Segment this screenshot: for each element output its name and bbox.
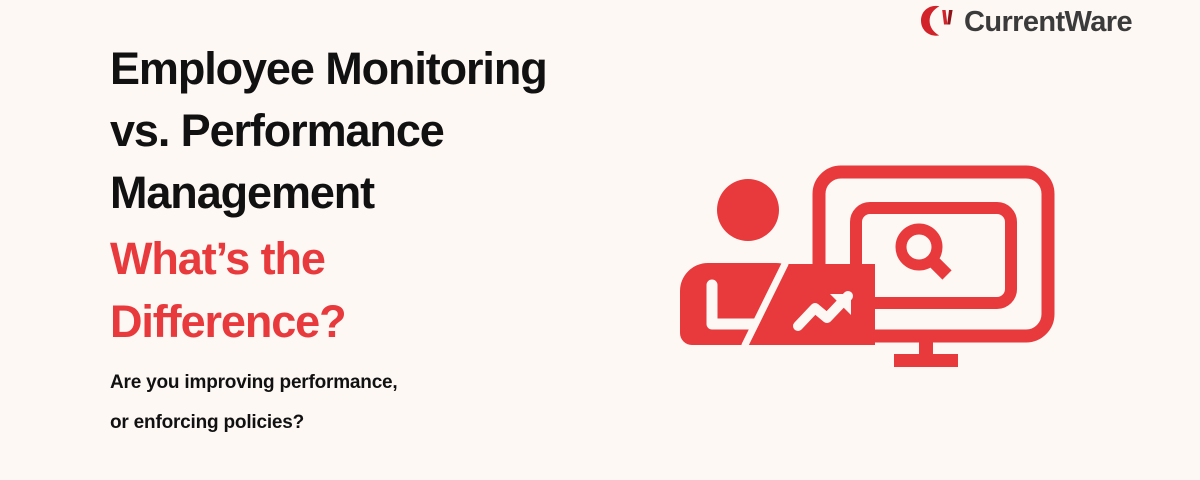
page-subtitle: What’s the Difference? [110,227,670,353]
brand-logo[interactable]: CurrentWare [918,2,1132,42]
person-head-icon [717,179,779,241]
currentware-logo-mark-icon [918,3,958,41]
monitor-stand-base-icon [894,354,958,367]
banner: CurrentWare Employee Monitoring vs. Perf… [0,0,1200,480]
hero-copy: Employee Monitoring vs. Performance Mana… [110,38,670,443]
illustration-svg [668,160,1060,382]
page-title: Employee Monitoring vs. Performance Mana… [110,38,670,224]
magnifying-glass-icon [901,229,947,275]
page-tagline: Are you improving performance, or enforc… [110,363,670,443]
employee-monitoring-illustration [668,160,1060,382]
brand-name: CurrentWare [964,8,1132,37]
